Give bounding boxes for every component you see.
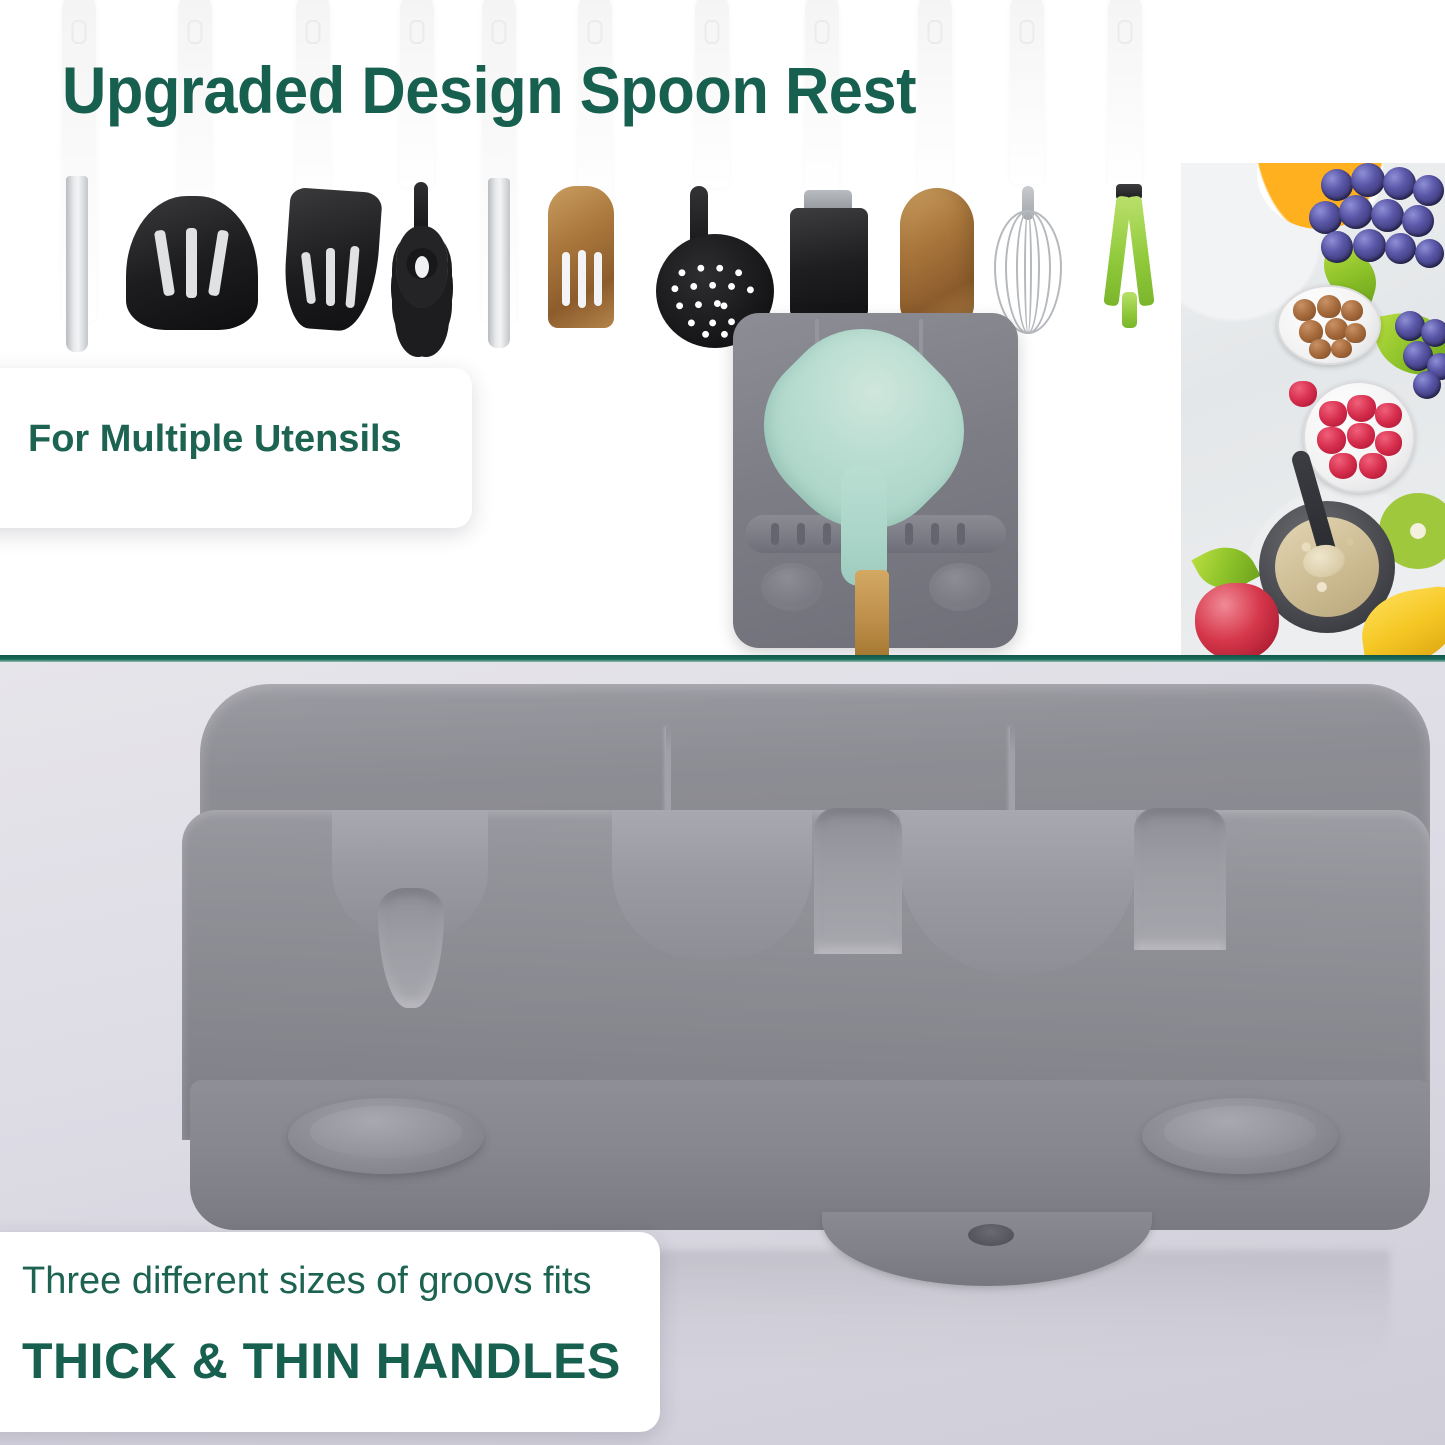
non-slip-pad <box>1142 1098 1338 1174</box>
top-banner: Upgraded Design Spoon Rest For Multiple … <box>0 0 1445 658</box>
utensil-handle-ghost <box>1010 0 1044 184</box>
mint-ladle-wood-handle <box>855 570 889 658</box>
silicone-spoon-rest-product <box>182 684 1430 1244</box>
tray-base-slab <box>190 1080 1430 1230</box>
non-slip-pad <box>288 1098 484 1174</box>
utensils-label-card: For Multiple Utensils <box>0 368 472 528</box>
page-title: Upgraded Design Spoon Rest <box>62 52 916 128</box>
rest-non-slip-pad <box>761 563 823 611</box>
fruit-flatlay-photo <box>1181 163 1445 658</box>
utensils-label-text: For Multiple Utensils <box>28 418 402 461</box>
groove-peak <box>1134 808 1226 950</box>
hazelnut-bowl <box>1277 285 1381 365</box>
groove-label-line2: THICK & THIN HANDLES <box>22 1332 621 1390</box>
groove-peak <box>814 808 902 954</box>
groove-valley-large <box>900 810 1136 974</box>
utensil-handle-ghost <box>918 0 952 190</box>
rest-non-slip-pad <box>929 563 991 611</box>
utensil-handle-ghost <box>1108 0 1142 188</box>
groove-label-line1: Three different sizes of groovs fits <box>22 1260 592 1303</box>
drip-hole <box>968 1224 1014 1246</box>
groove-label-card: Three different sizes of groovs fits THI… <box>0 1232 660 1432</box>
groove-valley-medium <box>612 810 812 960</box>
groove-peak <box>378 888 444 1008</box>
red-apple <box>1195 583 1279 658</box>
mint-ladle-neck <box>841 466 887 586</box>
raspberry-bowl <box>1303 381 1415 493</box>
section-divider <box>0 655 1445 662</box>
product-closeup-section: Three different sizes of groovs fits THI… <box>0 662 1445 1445</box>
